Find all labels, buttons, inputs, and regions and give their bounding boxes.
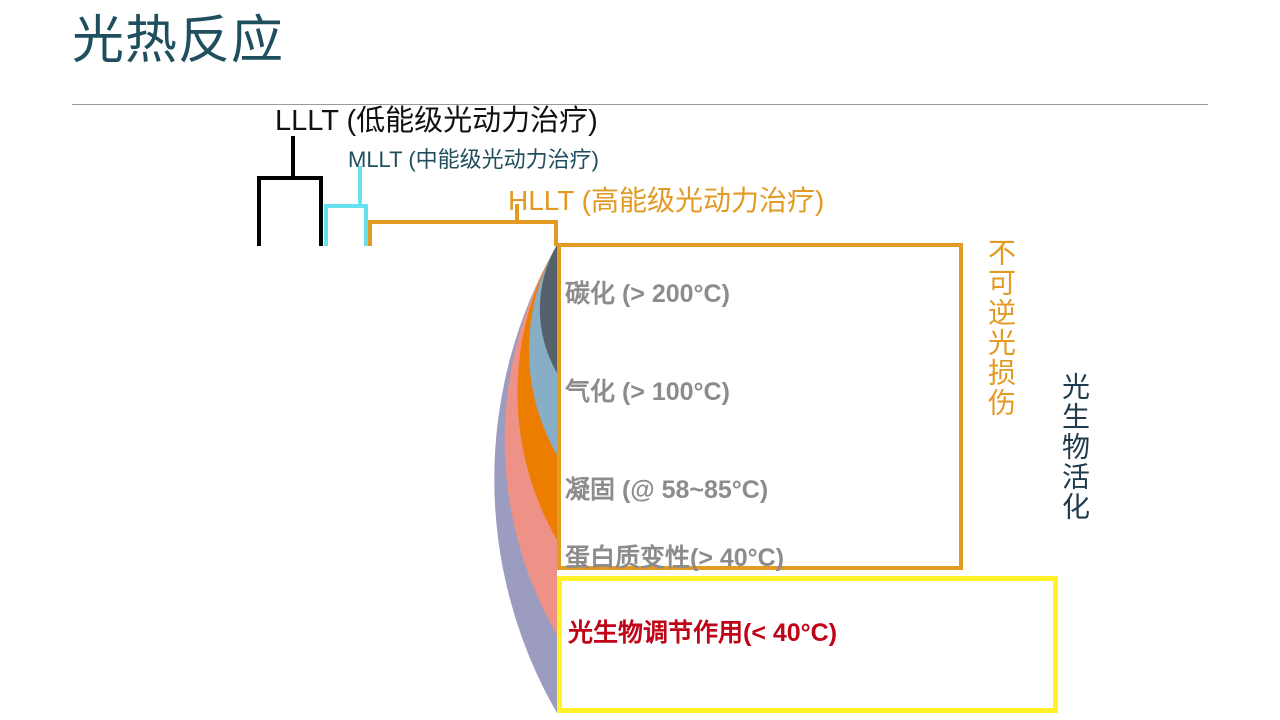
- side-label-irreversible-damage: 不可逆光损伤: [986, 238, 1014, 418]
- list-item: 碳化 (> 200°C): [565, 274, 955, 310]
- bracket-hllt: [368, 220, 558, 246]
- photobiomodulation-label: 光生物调节作用(< 40°C): [568, 613, 837, 649]
- list-item: 气化 (> 100°C): [565, 372, 955, 408]
- list-item: 蛋白质变性(> 40°C): [565, 538, 955, 574]
- bracket-lllt: [257, 176, 323, 246]
- slide-canvas: 光热反应 LLLT (低能级光动力治疗) MLLT (中能级光动力治疗) HLL…: [0, 0, 1280, 720]
- tier-label-hllt: HLLT (高能级光动力治疗): [508, 186, 824, 217]
- bracket-lllt-stem: [291, 136, 295, 178]
- bracket-mllt: [324, 204, 368, 246]
- arc-band-group: [494, 245, 557, 713]
- tier-label-lllt: LLLT (低能级光动力治疗): [275, 106, 598, 138]
- list-item: 凝固 (@ 58~85°C): [565, 470, 955, 506]
- tier-label-mllt: MLLT (中能级光动力治疗): [348, 148, 599, 172]
- side-label-photobioactivation: 光生物活化: [1060, 372, 1088, 522]
- irreversible-damage-list: 碳化 (> 200°C) 气化 (> 100°C) 凝固 (@ 58~85°C)…: [565, 258, 955, 558]
